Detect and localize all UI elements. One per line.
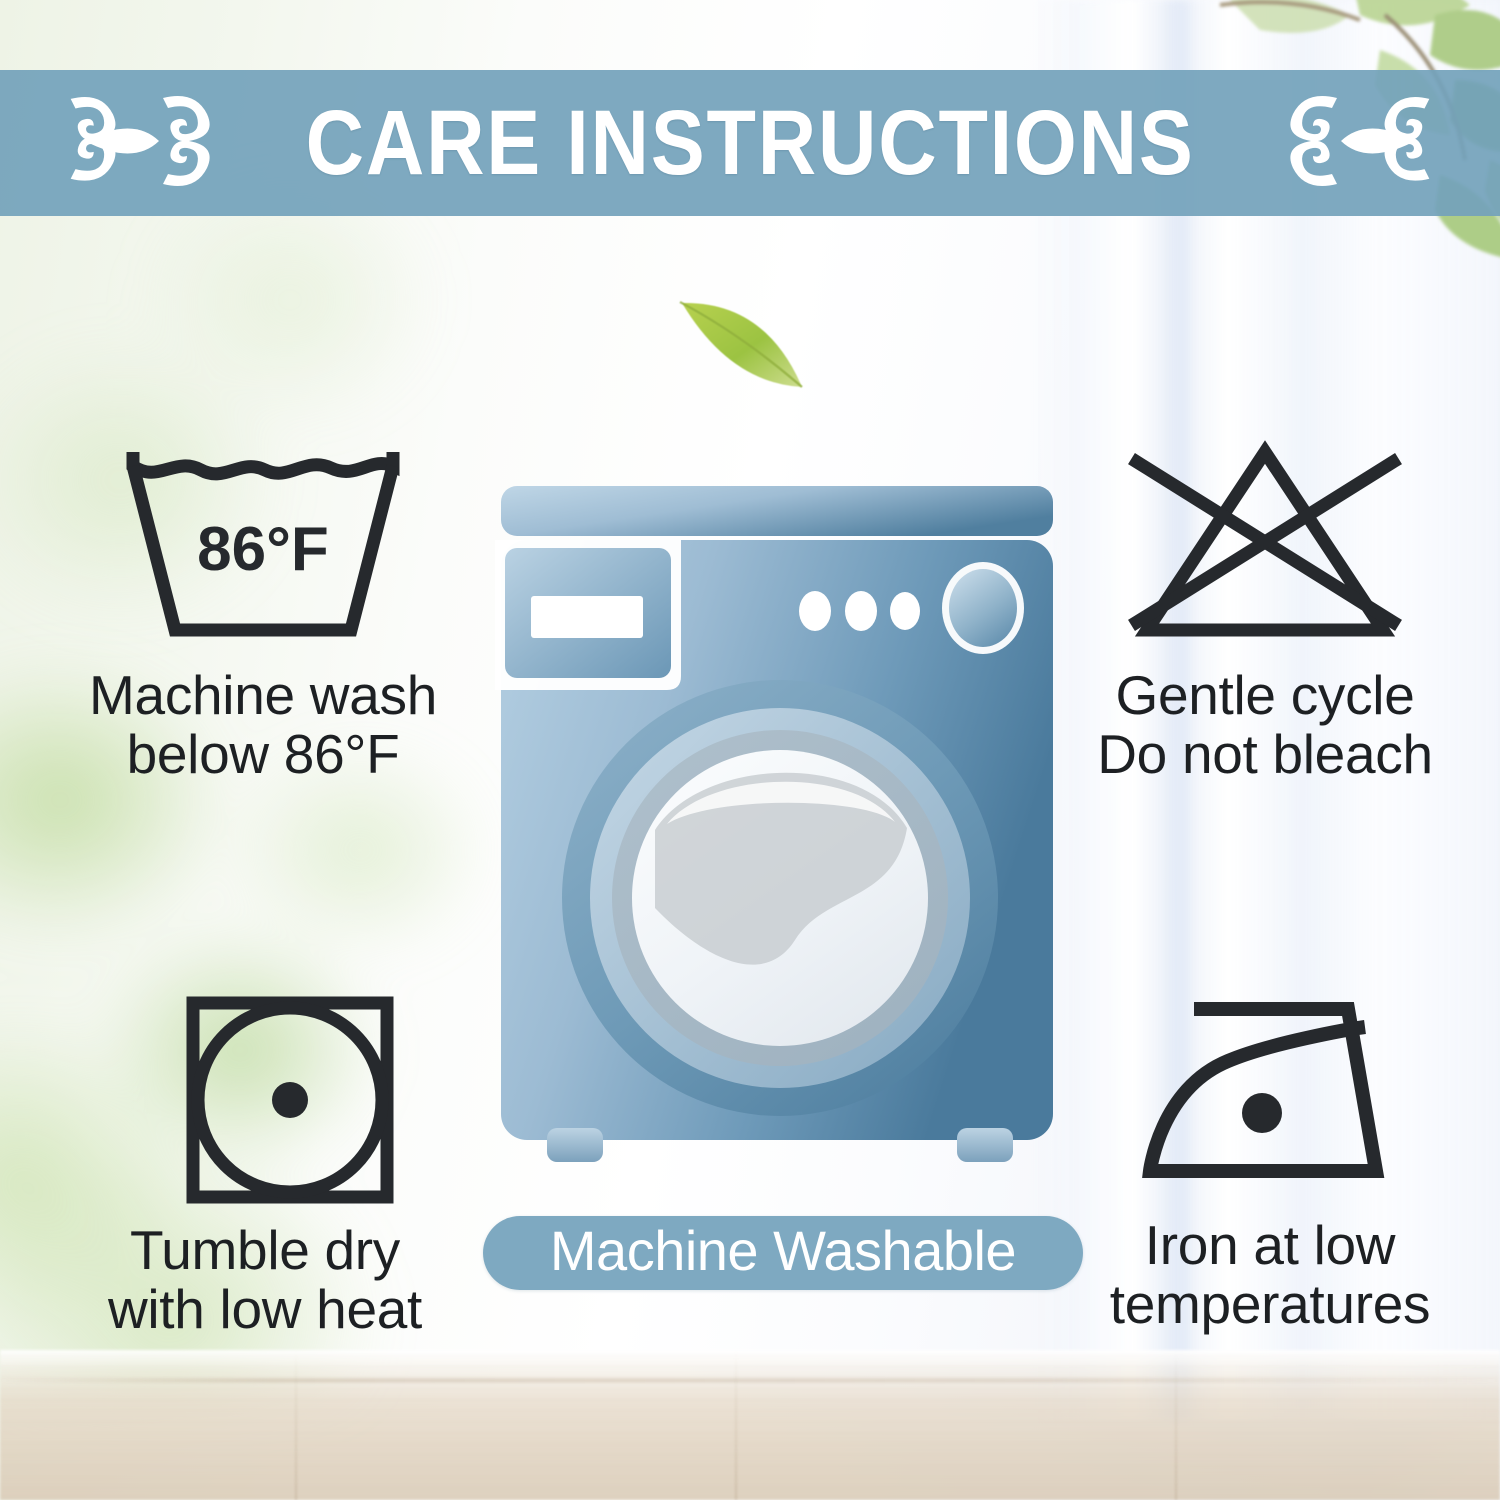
machine-washable-badge: Machine Washable [483,1216,1083,1290]
care-item-label: Gentle cycle Do not bleach [1035,666,1495,785]
fleur-de-lis-icon-left [67,86,217,201]
background-wood-joint [1175,1350,1177,1500]
machine-foot-left [547,1128,603,1162]
care-item-machine-wash: 86°F Machine wash below 86°F [28,440,498,785]
machine-foot-right [957,1128,1013,1162]
care-item-iron-low: Iron at low temperatures [1040,985,1500,1335]
care-item-label: Machine wash below 86°F [28,666,498,785]
triangle-crossed-out-icon [1035,440,1495,650]
fleur-de-lis-icon-right [1283,86,1433,201]
wash-temperature-value: 86°F [197,515,329,584]
care-item-do-not-bleach: Gentle cycle Do not bleach [1035,440,1495,785]
page-title: CARE INSTRUCTIONS [305,97,1194,189]
machine-knob [949,569,1017,647]
care-instructions-graphic: CARE INSTRUCTIONS 86°F [0,0,1500,1500]
care-item-tumble-dry: Tumble dry with low heat [30,995,500,1340]
machine-indicator-light [890,592,920,630]
wash-tub-icon: 86°F [28,440,498,650]
machine-indicator-light [799,591,831,631]
header-banner: CARE INSTRUCTIONS [0,70,1500,216]
machine-drawer-slot [531,596,643,638]
tumble-dry-low-icon [30,995,500,1205]
care-item-label: Iron at low temperatures [1040,1216,1500,1335]
machine-indicator-light [845,591,877,631]
care-item-label: Tumble dry with low heat [30,1221,500,1340]
machine-lid [501,486,1053,536]
washing-machine-illustration [495,478,1065,1178]
iron-one-dot-icon [1040,985,1500,1200]
background-wood-surface [0,1350,1500,1500]
background-wood-joint [735,1350,737,1500]
background-wood-joint [295,1350,297,1500]
falling-leaf-icon [650,275,890,415]
badge-label: Machine Washable [550,1223,1016,1283]
background-wood-seam [0,1379,1500,1382]
